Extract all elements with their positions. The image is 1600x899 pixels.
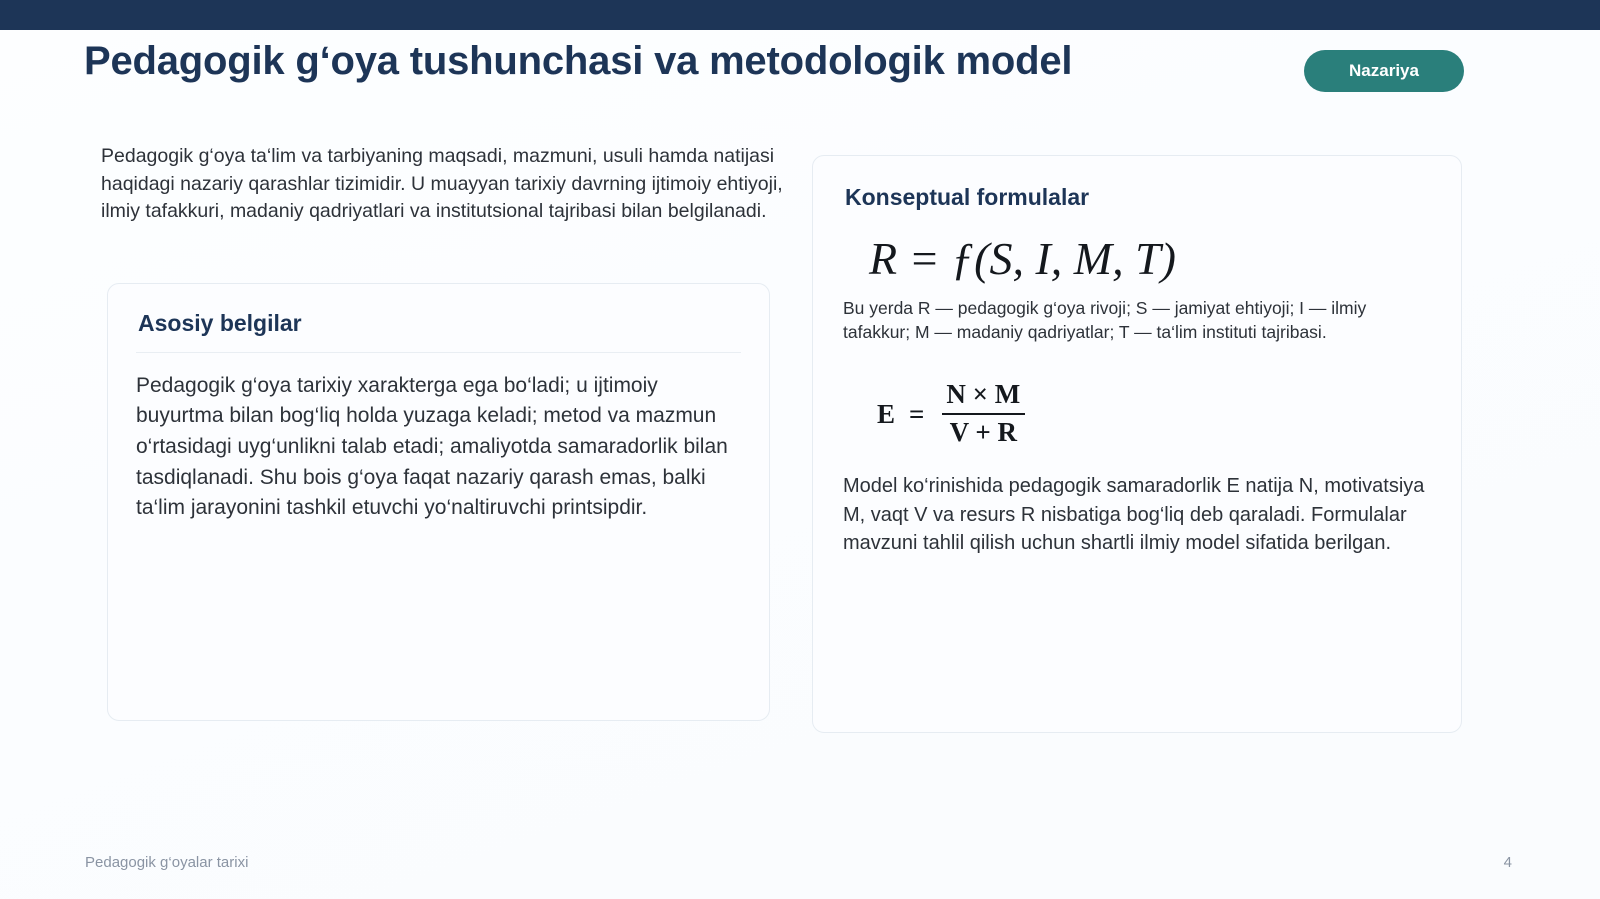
page-title: Pedagogik g‘oya tushunchasi va metodolog…: [84, 36, 1094, 86]
formula-2-numerator: N × M: [938, 380, 1028, 413]
card-konseptual-formulalar: Konseptual formulalar R = ƒ(S, I, M, T) …: [812, 155, 1462, 733]
formula-2-fraction: N × M V + R: [938, 380, 1028, 447]
formula-2-denominator: V + R: [942, 413, 1025, 448]
footer-note: Pedagogik g‘oyalar tarixi: [85, 854, 248, 871]
formula-2-equals: =: [909, 401, 924, 428]
formula-2-lhs: E: [877, 401, 895, 428]
top-accent-bar: [0, 0, 1600, 30]
card-left-divider: [136, 352, 741, 353]
card-left-body: Pedagogik g‘oya tarixiy xarakterga ega b…: [136, 371, 741, 524]
formula-1-explanation: Bu yerda R — pedagogik g‘oya rivoji; S —…: [843, 296, 1431, 344]
card-asosiy-belgilar: Asosiy belgilar Pedagogik g‘oya tarixiy …: [107, 283, 770, 721]
card-right-title: Konseptual formulalar: [843, 184, 1431, 212]
status-badge: Nazariya: [1304, 50, 1464, 92]
formula-r-equals-f: R = ƒ(S, I, M, T): [869, 234, 1431, 285]
card-left-title: Asosiy belgilar: [136, 310, 741, 352]
footer-page-number: 4: [1504, 854, 1512, 871]
formula-2-explanation: Model ko‘rinishida pedagogik samaradorli…: [843, 472, 1431, 558]
formula-e-equals-fraction: E = N × M V + R: [877, 380, 1431, 447]
intro-paragraph: Pedagogik g‘oya ta‘lim va tarbiyaning ma…: [101, 143, 791, 226]
slide: Pedagogik g‘oya tushunchasi va metodolog…: [0, 0, 1600, 899]
